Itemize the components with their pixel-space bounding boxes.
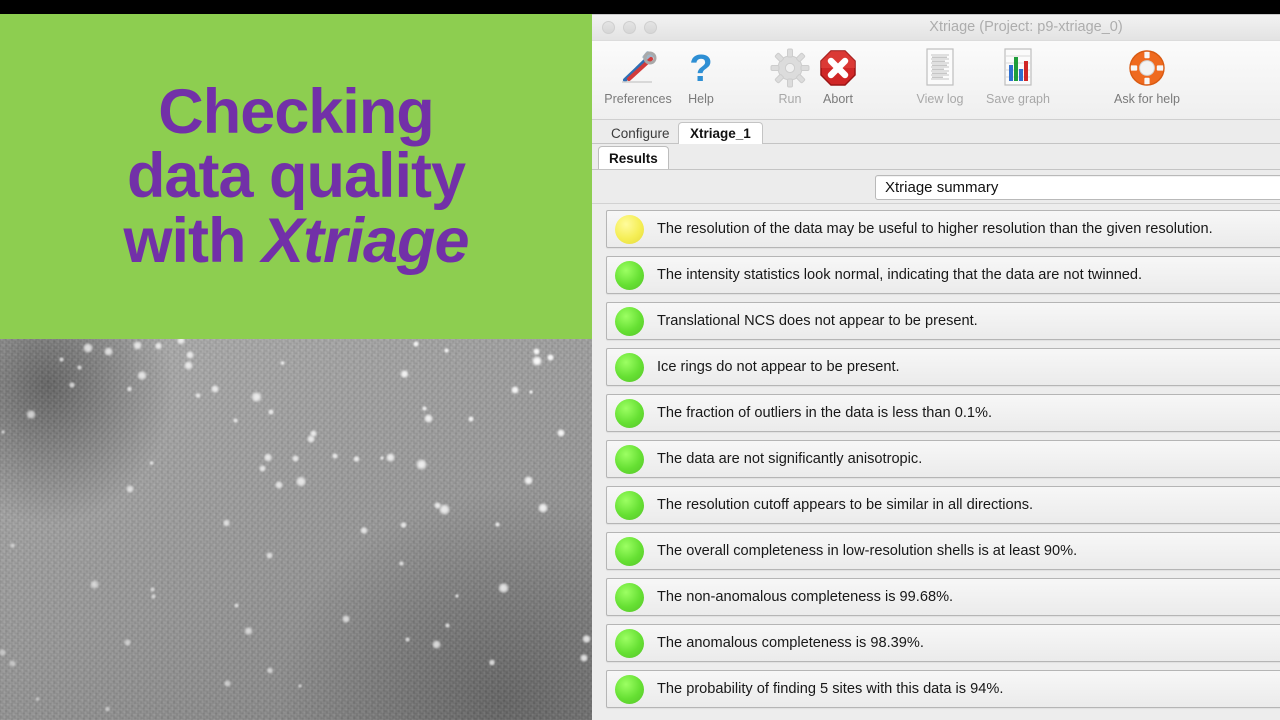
status-indicator-green	[615, 583, 644, 612]
status-indicator-green	[615, 629, 644, 658]
diffraction-spot	[468, 416, 473, 421]
diffraction-spot	[223, 519, 230, 526]
status-indicator-green	[615, 399, 644, 428]
status-indicator-green	[615, 537, 644, 566]
diffraction-spot	[498, 583, 509, 594]
gear-icon	[770, 46, 810, 90]
result-row[interactable]: Translational NCS does not appear to be …	[606, 302, 1280, 340]
toolbar-button-help[interactable]: ? Help	[672, 46, 730, 106]
toolbar-button-preferences[interactable]: Preferences	[594, 46, 682, 106]
toolbar-button-view-log[interactable]: View log	[903, 46, 977, 106]
screenshot-stage: Checking data quality with Xtriage Xtria…	[0, 0, 1280, 720]
diffraction-spot	[342, 615, 350, 623]
toolbar-label-view-log: View log	[916, 92, 963, 106]
window-titlebar: Xtriage (Project: p9-xtriage_0)	[592, 15, 1280, 41]
tab-xtriage-1[interactable]: Xtriage_1	[678, 122, 763, 144]
diffraction-spot	[69, 382, 75, 388]
x-ray-diffraction-image	[0, 339, 592, 720]
diffraction-spot	[360, 527, 367, 534]
diffraction-spot	[413, 341, 419, 347]
result-text: The overall completeness in low-resoluti…	[657, 543, 1077, 559]
diffraction-spot	[532, 356, 542, 366]
result-row[interactable]: The resolution of the data may be useful…	[606, 210, 1280, 248]
diffraction-spot	[26, 410, 35, 419]
status-indicator-yellow	[615, 215, 644, 244]
diffraction-spot	[538, 503, 548, 513]
diffraction-spot	[83, 343, 93, 353]
diffraction-spot	[292, 455, 299, 462]
diffraction-spot	[582, 635, 591, 644]
stop-x-icon	[818, 46, 858, 90]
results-list[interactable]: The resolution of the data may be useful…	[592, 204, 1280, 720]
diffraction-spot	[105, 706, 111, 712]
status-indicator-green	[615, 307, 644, 336]
diffraction-spot	[310, 430, 317, 437]
subtab-results[interactable]: Results	[598, 146, 669, 169]
diffraction-spot	[186, 351, 194, 359]
diffraction-spot	[524, 476, 533, 485]
bar-chart-icon	[1001, 46, 1035, 90]
result-text: Translational NCS does not appear to be …	[657, 313, 978, 329]
diffraction-spot	[399, 561, 403, 565]
main-tabstrip: Configure Xtriage_1	[592, 120, 1280, 144]
slide-title-line-3-prefix: with	[123, 206, 261, 276]
diffraction-spot	[386, 453, 395, 462]
diffraction-spot	[126, 485, 134, 493]
result-text: The intensity statistics look normal, in…	[657, 267, 1142, 283]
toolbar-label-preferences: Preferences	[604, 92, 671, 106]
diffraction-spot	[380, 456, 384, 460]
toolbar-button-ask-for-help[interactable]: Ask for help	[1099, 46, 1195, 106]
diffraction-spot	[195, 393, 200, 398]
diffraction-spot	[268, 409, 274, 415]
diffraction-spot	[155, 342, 163, 350]
diffraction-spot	[533, 348, 540, 355]
result-text: The data are not significantly anisotrop…	[657, 451, 922, 467]
status-indicator-green	[615, 491, 644, 520]
diffraction-spot	[9, 660, 16, 667]
tab-configure[interactable]: Configure	[600, 122, 681, 144]
diffraction-spot	[424, 414, 433, 423]
diffraction-spot	[432, 640, 441, 649]
diffraction-spot	[267, 667, 274, 674]
diffraction-spot	[177, 339, 185, 345]
diffraction-spot	[434, 502, 441, 509]
diffraction-spot	[137, 371, 146, 380]
diffraction-spot	[547, 354, 554, 361]
diffraction-spot	[234, 603, 239, 608]
diffraction-spot	[151, 594, 156, 599]
combo-row: Xtriage summary	[592, 170, 1280, 204]
diffraction-spot	[149, 461, 153, 465]
diffraction-spot	[400, 370, 409, 379]
toolbar-button-save-graph[interactable]: Save graph	[975, 46, 1061, 106]
diffraction-spot	[251, 392, 262, 403]
question-mark-icon: ?	[682, 46, 720, 90]
diffraction-noise-texture	[0, 339, 592, 720]
result-text: The anomalous completeness is 98.39%.	[657, 635, 924, 651]
result-row[interactable]: The intensity statistics look normal, in…	[606, 256, 1280, 294]
diffraction-spot	[275, 481, 283, 489]
diffraction-spot	[296, 476, 306, 486]
result-row[interactable]: The fraction of outliers in the data is …	[606, 394, 1280, 432]
diffraction-spot	[444, 348, 449, 353]
diffraction-spot	[150, 587, 155, 592]
slide-title-line-3-italic: Xtriage	[262, 206, 469, 276]
diffraction-spot	[90, 580, 99, 589]
diffraction-spot	[489, 659, 495, 665]
status-indicator-green	[615, 445, 644, 474]
toolbar: Preferences ? Help	[592, 41, 1280, 120]
window-title: Xtriage (Project: p9-xtriage_0)	[592, 19, 1280, 35]
diffraction-spot	[259, 465, 265, 471]
diffraction-spot	[133, 341, 142, 350]
diffraction-spot	[0, 649, 6, 656]
diffraction-spot	[266, 552, 273, 559]
result-row[interactable]: The probability of finding 5 sites with …	[606, 670, 1280, 708]
diffraction-spot	[211, 385, 219, 393]
diffraction-spot	[124, 639, 131, 646]
toolbar-label-ask-for-help: Ask for help	[1114, 92, 1180, 106]
diffraction-spot	[104, 347, 113, 356]
result-row[interactable]: The non-anomalous completeness is 99.68%…	[606, 578, 1280, 616]
diffraction-spot	[233, 418, 237, 422]
diffraction-spot	[400, 522, 406, 528]
diffraction-spot	[280, 361, 285, 366]
result-row[interactable]: Ice rings do not appear to be present.	[606, 348, 1280, 386]
result-text: The non-anomalous completeness is 99.68%…	[657, 589, 953, 605]
document-icon	[923, 46, 957, 90]
diffraction-spot	[511, 386, 519, 394]
slide-title-line-3: with Xtriage	[123, 209, 468, 273]
diffraction-spot	[353, 456, 360, 463]
diffraction-spot	[405, 637, 410, 642]
slide-title-line-2: data quality	[127, 144, 465, 208]
status-indicator-green	[615, 261, 644, 290]
diffraction-spot	[445, 623, 450, 628]
diffraction-spot	[244, 627, 253, 636]
diffraction-spot	[224, 680, 231, 687]
result-text: The resolution of the data may be useful…	[657, 221, 1213, 237]
svg-text:?: ?	[689, 48, 712, 88]
xtriage-summary-select[interactable]: Xtriage summary	[875, 175, 1280, 200]
toolbar-label-run: Run	[779, 92, 802, 106]
diffraction-spot	[580, 654, 588, 662]
status-indicator-green	[615, 675, 644, 704]
diffraction-spot	[557, 429, 565, 437]
xtriage-application-window: Xtriage (Project: p9-xtriage_0) Preferen…	[592, 14, 1280, 720]
result-text: The probability of finding 5 sites with …	[657, 681, 1003, 697]
result-text: The resolution cutoff appears to be simi…	[657, 497, 1033, 513]
toolbar-button-abort[interactable]: Abort	[808, 46, 868, 106]
result-text: The fraction of outliers in the data is …	[657, 405, 992, 421]
result-row[interactable]: The anomalous completeness is 98.39%.	[606, 624, 1280, 662]
slide-title-line-1: Checking	[158, 80, 434, 144]
diffraction-spot	[416, 459, 427, 470]
life-ring-icon	[1126, 46, 1168, 90]
result-row[interactable]: The resolution cutoff appears to be simi…	[606, 486, 1280, 524]
result-text: Ice rings do not appear to be present.	[657, 359, 900, 375]
toolbar-label-help: Help	[688, 92, 714, 106]
diffraction-spot	[332, 453, 338, 459]
result-row[interactable]: The overall completeness in low-resoluti…	[606, 532, 1280, 570]
status-indicator-green	[615, 353, 644, 382]
slide-title-panel: Checking data quality with Xtriage	[0, 14, 592, 339]
diffraction-spot	[264, 453, 273, 462]
toolbar-label-abort: Abort	[823, 92, 853, 106]
tools-icon	[618, 46, 658, 90]
diffraction-spot	[127, 386, 132, 391]
diffraction-spot	[495, 522, 500, 527]
presentation-slide: Checking data quality with Xtriage	[0, 14, 592, 720]
result-row[interactable]: The data are not significantly anisotrop…	[606, 440, 1280, 478]
diffraction-spot	[184, 361, 193, 370]
toolbar-label-save-graph: Save graph	[986, 92, 1050, 106]
diffraction-spot	[422, 406, 426, 410]
sub-tabstrip: Results	[592, 144, 1280, 170]
